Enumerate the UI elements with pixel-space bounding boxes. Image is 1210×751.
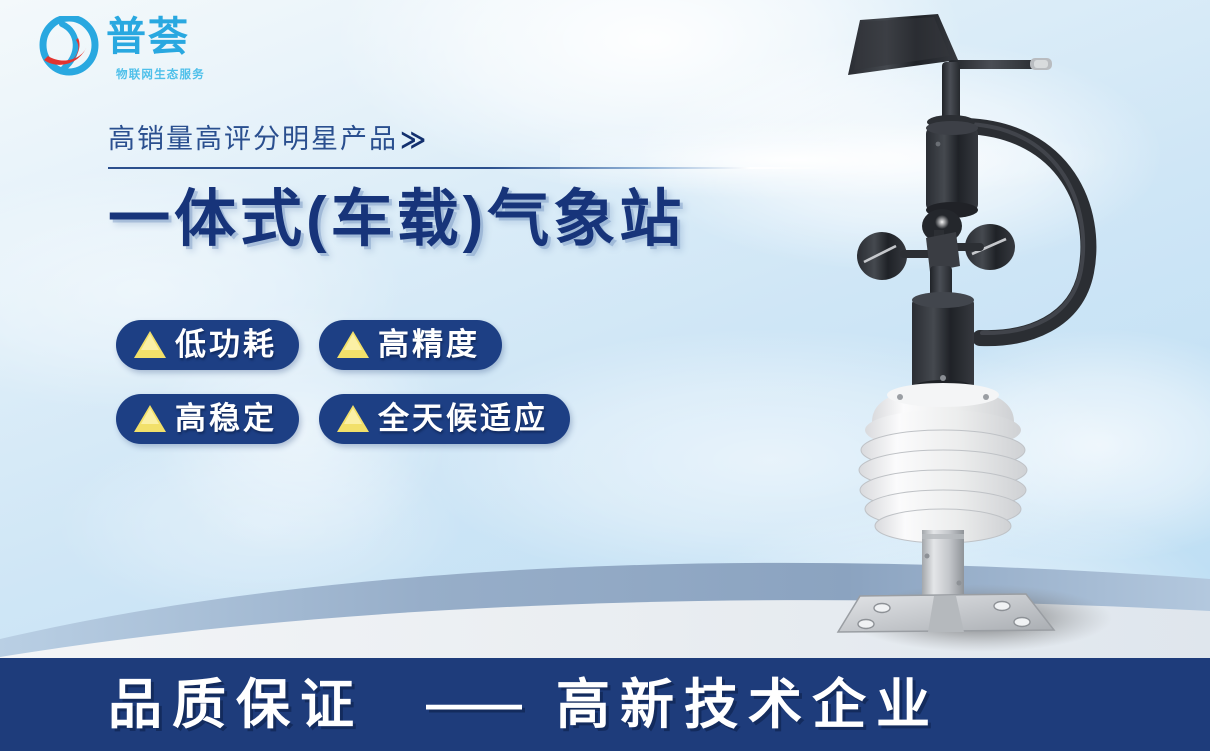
product-image-weather-station (830, 0, 1160, 660)
feature-badge-label: 低功耗 (175, 329, 277, 360)
triangle-icon (134, 331, 166, 358)
footer-right-text: 高新技术企业 (556, 678, 940, 732)
feature-badge-label: 高精度 (378, 329, 480, 360)
double-chevron-right-icon: ≫ (400, 126, 426, 154)
footer-left-text: 品质保证 (108, 678, 364, 732)
footer-dash: —— (426, 677, 522, 732)
feature-badge-label: 高稳定 (175, 403, 277, 434)
feature-badge-all-weather[interactable]: 全天候适应 (319, 394, 570, 444)
brand-tagline: 物联网生态服务 (116, 66, 205, 82)
brand-logo: 普荟 物联网生态服务 (38, 14, 248, 90)
feature-badge-high-stability[interactable]: 高稳定 (116, 394, 299, 444)
triangle-icon (134, 405, 166, 432)
feature-badge-label: 全天候适应 (378, 403, 548, 434)
pu-hui-circle-logo-icon (38, 16, 100, 78)
feature-badges: 低功耗 高精度 高稳定 全天候适应 (116, 320, 570, 468)
brand-name: 普荟 (106, 17, 190, 57)
eyebrow: 高销量高评分明星产品≫ (108, 125, 426, 155)
eyebrow-text: 高销量高评分明星产品 (108, 124, 398, 154)
feature-badge-low-power[interactable]: 低功耗 (116, 320, 299, 370)
feature-row: 低功耗 高精度 (116, 320, 570, 370)
feature-row: 高稳定 全天候适应 (116, 394, 570, 444)
triangle-icon (337, 405, 369, 432)
feature-badge-high-accuracy[interactable]: 高精度 (319, 320, 502, 370)
eyebrow-underline (108, 167, 838, 169)
product-banner: 普荟 物联网生态服务 高销量高评分明星产品≫ 一体式(车载)气象站 低功耗 高精… (0, 0, 1210, 751)
page-title: 一体式(车载)气象站 (108, 187, 685, 254)
footer-bar: 品质保证 —— 高新技术企业 (0, 658, 1210, 751)
triangle-icon (337, 331, 369, 358)
